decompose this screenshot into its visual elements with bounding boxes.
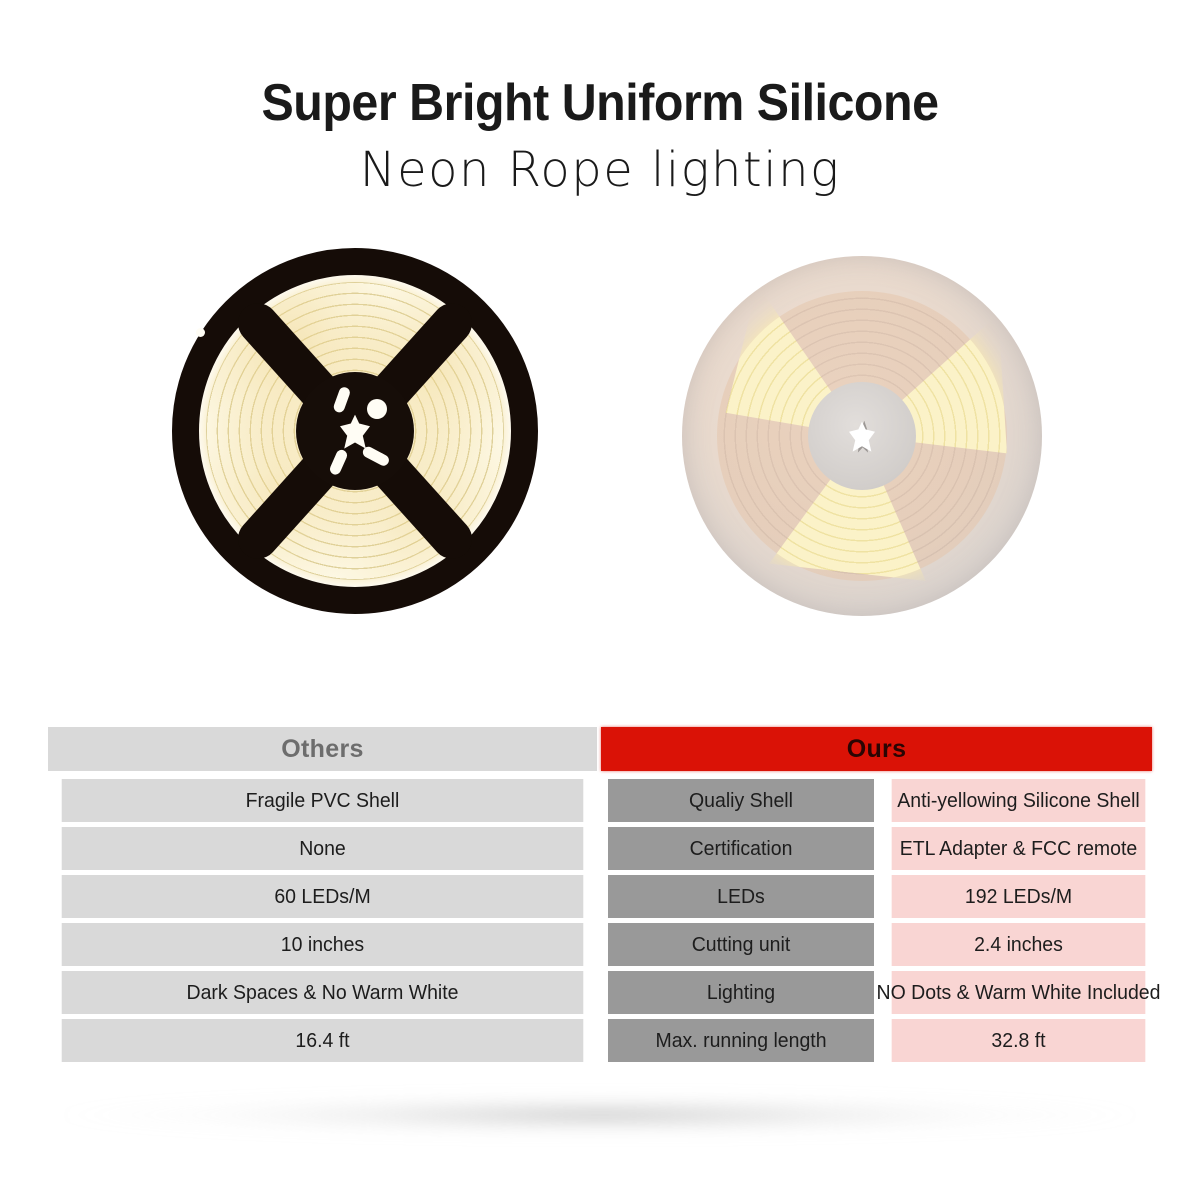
page-title: Super Bright Uniform Silicone [42,0,1158,131]
column-header-others: Others [48,727,597,771]
black-reel-graphic [160,236,550,626]
cell-spec: Certification [608,827,874,870]
table-row: Dark Spaces & No Warm White Lighting NO … [48,971,1152,1014]
ours-white-reel-image [676,250,1048,622]
cell-ours: 192 LEDs/M [892,875,1146,918]
cell-spec: Cutting unit [608,923,874,966]
cell-ours: NO Dots & Warm White Included [892,971,1146,1014]
cell-others: None [62,827,584,870]
comparison-table: Others Ours Fragile PVC Shell Qualiy She… [48,727,1152,1067]
cell-spec: Lighting [608,971,874,1014]
column-header-ours: Ours [601,727,1152,771]
table-row: Fragile PVC Shell Qualiy Shell Anti-yell… [48,779,1152,822]
white-reel-graphic [676,250,1048,622]
cell-ours: 32.8 ft [892,1019,1146,1062]
header-block: Super Bright Uniform Silicone Neon Rope … [0,0,1200,195]
table-row: 16.4 ft Max. running length 32.8 ft [48,1019,1152,1062]
table-row: 60 LEDs/M LEDs 192 LEDs/M [48,875,1152,918]
cell-ours: 2.4 inches [892,923,1146,966]
cell-others: 16.4 ft [62,1019,584,1062]
cell-ours: Anti-yellowing Silicone Shell [892,779,1146,822]
cell-spec: Max. running length [608,1019,874,1062]
table-row: None Certification ETL Adapter & FCC rem… [48,827,1152,870]
cell-spec: Qualiy Shell [608,779,874,822]
competitor-black-reel-image [160,236,550,626]
product-image-row [0,228,1200,648]
reel-screw-hole-icon [196,328,205,337]
cell-others: Fragile PVC Shell [62,779,584,822]
table-row: 10 inches Cutting unit 2.4 inches [48,923,1152,966]
hub-notch-icon [367,399,387,419]
table-header-row: Others Ours [48,727,1152,771]
cell-ours: ETL Adapter & FCC remote [892,827,1146,870]
cell-others: Dark Spaces & No Warm White [62,971,584,1014]
bottom-reflection-shadow [0,1092,1200,1138]
cell-others: 10 inches [62,923,584,966]
cell-others: 60 LEDs/M [62,875,584,918]
cell-spec: LEDs [608,875,874,918]
page-subtitle: Neon Rope lighting [0,131,1200,195]
